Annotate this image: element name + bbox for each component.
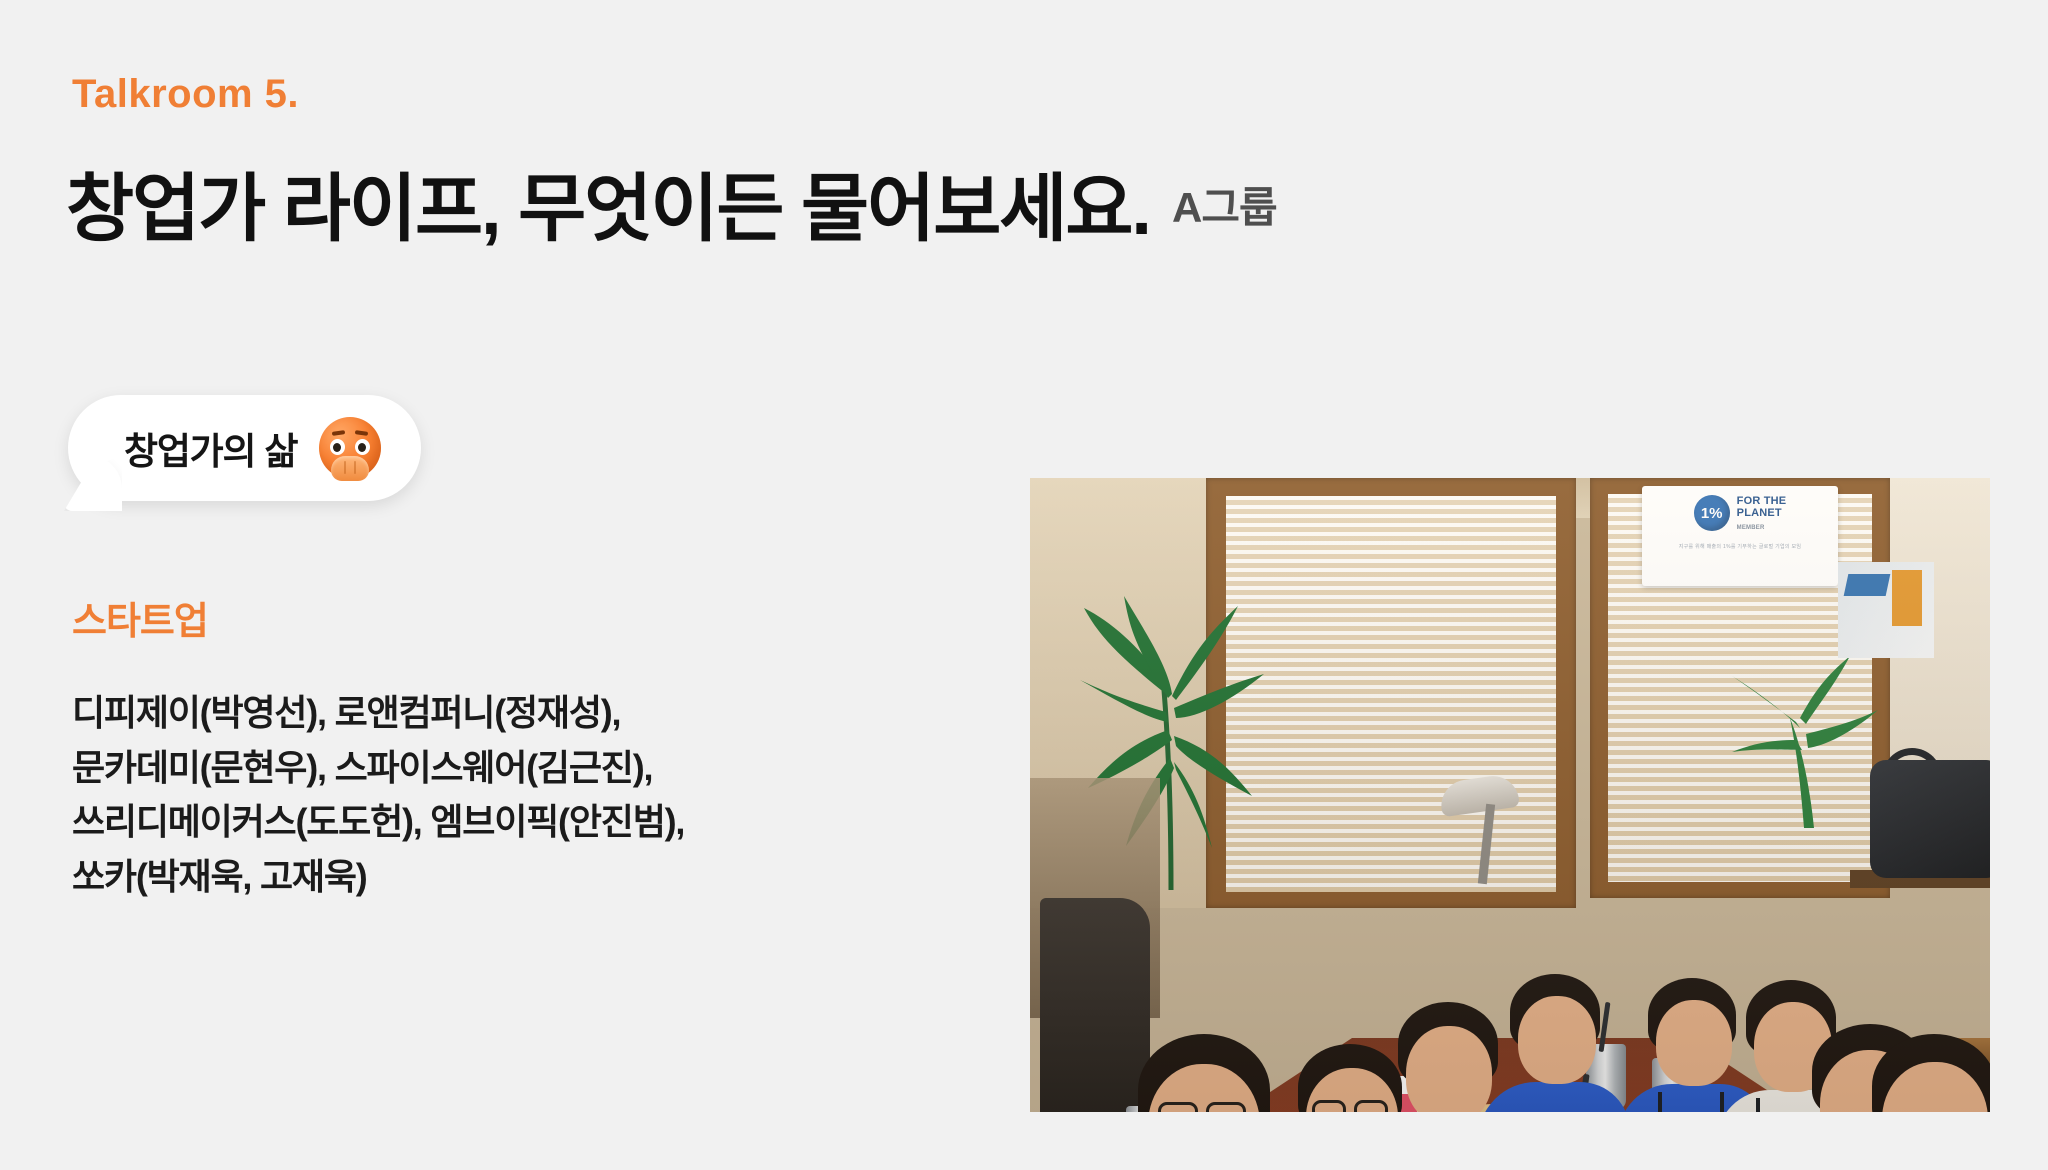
planet-sign-fineprint: 지구를 위해 매출의 1%를 기부하는 글로벌 기업의 모임 — [1679, 543, 1802, 550]
planet-sign-line1: FOR THE — [1737, 495, 1787, 507]
list-item: 쏘카(박재욱, 고재욱) — [72, 850, 684, 905]
startup-participant-list: 디피제이(박영선), 로앤컴퍼니(정재성), 문카데미(문현우), 스파이스웨어… — [72, 686, 684, 905]
title-main-text: 창업가 라이프, 무엇이든 물어보세요. — [66, 170, 1150, 248]
title-group-superscript: A그룹 — [1172, 174, 1277, 235]
palm-plant-right — [1730, 648, 1880, 828]
list-item: 디피제이(박영선), 로앤컴퍼니(정재성), — [72, 686, 684, 741]
wall-art-swatch-blue — [1844, 574, 1891, 596]
one-percent-for-the-planet-sign: 1% FOR THE PLANET MEMBER 지구를 위해 매출의 1%를 … — [1642, 486, 1838, 586]
list-item: 문카데미(문현우), 스파이스웨어(김근진), — [72, 741, 684, 796]
planet-globe-icon: 1% — [1694, 495, 1730, 531]
topic-bubble-body: 창업가의 삶 — [68, 395, 421, 501]
group-photo: 1% FOR THE PLANET MEMBER 지구를 위해 매출의 1%를 … — [1030, 478, 1990, 1112]
planet-sign-member: MEMBER — [1737, 525, 1787, 532]
planet-sign-line2: PLANET — [1737, 507, 1787, 519]
section-heading-startup: 스타트업 — [72, 590, 208, 645]
topic-bubble: 창업가의 삶 — [68, 395, 488, 510]
wall-art-swatch-orange — [1892, 570, 1922, 626]
window-blind-left — [1226, 496, 1556, 892]
bubble-tail-shape — [64, 455, 122, 511]
backpack — [1870, 760, 1990, 878]
topic-bubble-label: 창업가의 삶 — [124, 421, 297, 475]
slide-canvas: Talkroom 5. 창업가 라이프, 무엇이든 물어보세요. A그룹 창업가… — [0, 0, 2048, 1170]
face-with-hand-over-mouth-icon — [319, 417, 381, 479]
list-item: 쓰리디메이커스(도도헌), 엠브이픽(안진범), — [72, 795, 684, 850]
talkroom-eyebrow: Talkroom 5. — [72, 72, 299, 117]
hanging-coat — [1040, 898, 1150, 1112]
page-title: 창업가 라이프, 무엇이든 물어보세요. A그룹 — [66, 170, 1277, 248]
